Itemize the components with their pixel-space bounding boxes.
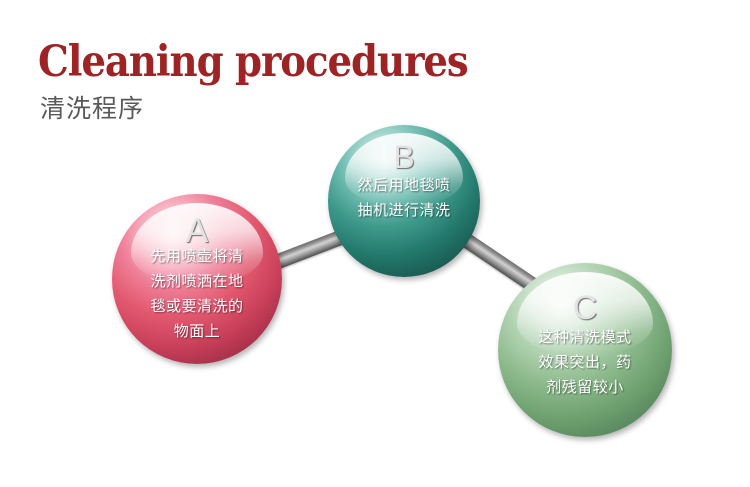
- process-node-b[interactable]: B 然后用地毯喷 抽机进行清洗: [328, 125, 480, 277]
- page-title: Cleaning procedures: [38, 38, 468, 86]
- node-c-text: 这种清洗模式 效果突出，药 剂残留较小: [498, 325, 672, 400]
- sphere-highlight-icon: [131, 203, 264, 285]
- process-node-c[interactable]: C 这种清洗模式 效果突出，药 剂残留较小: [498, 263, 672, 437]
- node-b-text-line: 抽机进行清洗: [328, 198, 480, 223]
- node-b-text: 然后用地毯喷 抽机进行清洗: [328, 173, 480, 223]
- node-a-text-line: 先用喷壶将清: [112, 244, 282, 269]
- sphere-highlight-icon: [345, 133, 464, 206]
- node-a-text-line: 洗剂喷洒在地: [112, 269, 282, 294]
- node-a-letter: A: [112, 212, 282, 251]
- node-c-text-line: 这种清洗模式: [498, 325, 672, 350]
- slide-canvas: Cleaning procedures 清洗程序 A 先用喷壶将清 洗剂喷洒在地…: [0, 0, 750, 487]
- node-c-letter: C: [498, 289, 672, 328]
- sphere-highlight-icon: [517, 272, 653, 356]
- node-c-text-line: 剂残留较小: [498, 375, 672, 400]
- process-node-a[interactable]: A 先用喷壶将清 洗剂喷洒在地 毯或要清洗的 物面上: [112, 194, 282, 364]
- page-subtitle: 清洗程序: [40, 93, 144, 125]
- node-a-text-line: 物面上: [112, 319, 282, 344]
- node-a-text: 先用喷壶将清 洗剂喷洒在地 毯或要清洗的 物面上: [112, 244, 282, 344]
- node-a-text-line: 毯或要清洗的: [112, 294, 282, 319]
- node-b-letter: B: [328, 139, 480, 176]
- node-c-text-line: 效果突出，药: [498, 350, 672, 375]
- node-b-text-line: 然后用地毯喷: [328, 173, 480, 198]
